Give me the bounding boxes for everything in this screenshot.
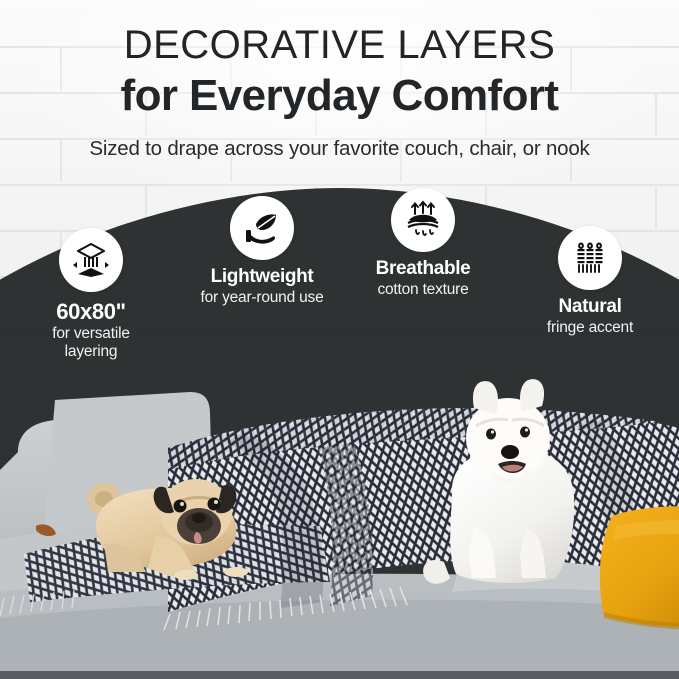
- badge-icon-bubble: [59, 228, 123, 292]
- badge-title: Lightweight: [182, 267, 342, 288]
- headline-block: DECORATIVE LAYERS for Everyday Comfort S…: [0, 0, 679, 160]
- subtitle: Sized to drape across your favorite couc…: [0, 139, 679, 160]
- feature-badge-lightweight: Lightweight for year-round use: [182, 196, 342, 306]
- layered-stack-icon: [71, 240, 111, 280]
- product-photo: [0, 330, 679, 679]
- badge-subtitle-line1: fringe accent: [516, 319, 664, 336]
- badge-icon-bubble: [230, 196, 294, 260]
- badge-subtitle-line2: layering: [16, 343, 166, 360]
- feature-badge-size: 60x80" for versatile layering: [16, 228, 166, 360]
- fringe-tassel-icon: [570, 238, 610, 278]
- badge-subtitle-line1: for versatile: [16, 325, 166, 342]
- feature-badge-fringe: Natural fringe accent: [516, 226, 664, 336]
- badge-title: Natural: [516, 297, 664, 318]
- hand-holding-feather-icon: [242, 208, 282, 248]
- badge-title: 60x80": [16, 300, 166, 324]
- badge-icon-bubble: [391, 188, 455, 252]
- badge-subtitle-line1: cotton texture: [348, 281, 498, 298]
- infographic-canvas: DECORATIVE LAYERS for Everyday Comfort S…: [0, 0, 679, 679]
- badge-title: Breathable: [348, 259, 498, 280]
- badge-icon-bubble: [558, 226, 622, 290]
- title-line-1: DECORATIVE LAYERS: [0, 25, 679, 65]
- badge-subtitle-line1: for year-round use: [182, 289, 342, 306]
- feature-badge-breathable: Breathable cotton texture: [348, 188, 498, 298]
- breathable-fabric-arrows-icon: [403, 200, 443, 240]
- title-line-2: for Everyday Comfort: [0, 74, 679, 118]
